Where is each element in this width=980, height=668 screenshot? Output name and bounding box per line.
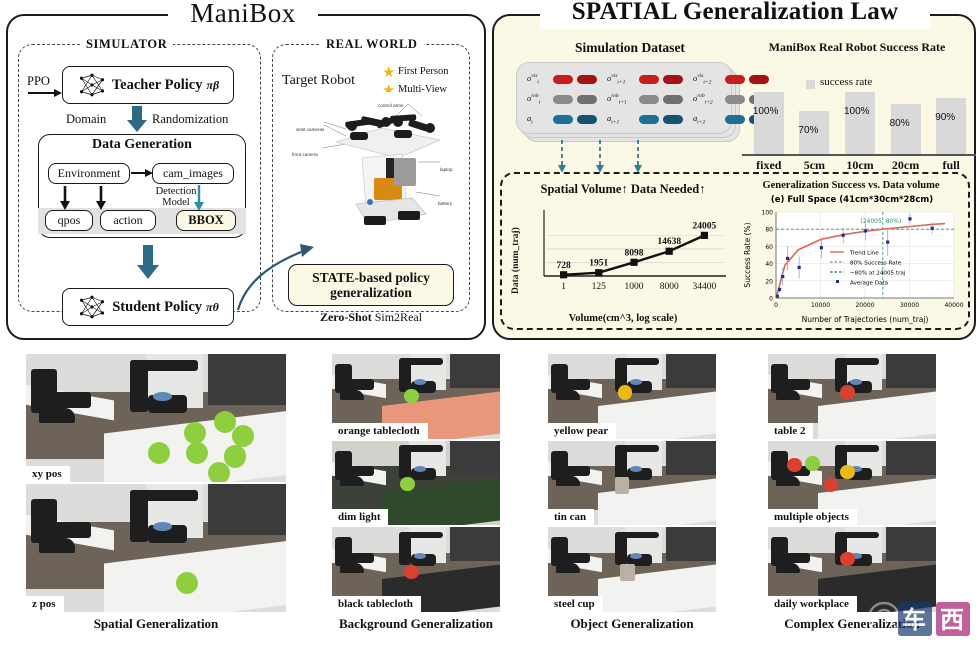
state-policy-line1: STATE-based policy bbox=[312, 270, 430, 285]
bar-category-full: full bbox=[929, 158, 973, 173]
scatter-point bbox=[781, 275, 784, 278]
line-xtick: 8000 bbox=[660, 282, 679, 292]
photo-caption: black tablecloth bbox=[332, 596, 421, 612]
scatter-chart-title: Generalization Success vs. Data volume bbox=[736, 180, 966, 191]
watermark-logo: 车 西 bbox=[866, 588, 976, 648]
photo-xy-pos: xy pos bbox=[26, 354, 286, 482]
scatter-ytick: 80 bbox=[765, 227, 773, 234]
photo-caption: table 2 bbox=[768, 423, 813, 439]
token-pill bbox=[639, 95, 659, 104]
scene-object bbox=[840, 552, 854, 566]
line-marker bbox=[560, 271, 567, 278]
dataset-to-chart-arrows-icon bbox=[556, 140, 666, 176]
token-pill bbox=[639, 115, 659, 124]
bar-value-full: 90% bbox=[935, 112, 955, 123]
scatter-xtick: 30000 bbox=[900, 302, 919, 309]
scene-object bbox=[148, 442, 170, 464]
token-pill bbox=[725, 95, 745, 104]
neural-network-icon bbox=[77, 294, 107, 320]
line-chart-xlabel: Volume(cm^3, log scale) bbox=[512, 313, 734, 324]
token-label-ovis-t1: ovist+1 bbox=[607, 73, 639, 86]
scene-object bbox=[184, 422, 206, 444]
simulation-dataset-title: Simulation Dataset bbox=[520, 40, 740, 56]
line-marker bbox=[666, 248, 673, 255]
token-label-ovis-t2: ovist+2 bbox=[693, 73, 725, 86]
robot-callout-control-arms: control arms bbox=[378, 94, 403, 112]
scene-object bbox=[224, 445, 246, 467]
bar-value-20cm: 80% bbox=[890, 118, 910, 129]
first-person-label: First Person bbox=[398, 66, 448, 77]
token-pill bbox=[577, 95, 597, 104]
scatter-point bbox=[908, 217, 911, 220]
token-label-orob-t2: orobt+2 bbox=[693, 93, 725, 106]
randomization-label: Randomization bbox=[152, 112, 228, 127]
robot-callout-laptop: laptop bbox=[440, 158, 453, 176]
scene-object bbox=[805, 456, 819, 470]
token-pill bbox=[553, 95, 573, 104]
scatter-chart-svg: (e) Full Space (41cm*30cm*28cm)(24005, 8… bbox=[740, 192, 964, 326]
bar-legend-swatch bbox=[806, 80, 815, 89]
scatter-subtitle: (e) Full Space (41cm*30cm*28cm) bbox=[771, 195, 933, 205]
bar-category-10cm: 10cm bbox=[838, 158, 882, 173]
scatter-ylabel: Success Rate (%) bbox=[743, 222, 752, 287]
bar-10cm bbox=[845, 92, 875, 154]
scatter-xtick: 0 bbox=[774, 302, 778, 309]
token-card: ovist ovist+1 ovist+2 orobt orobt+1 orob… bbox=[516, 62, 732, 134]
line-value-label: 728 bbox=[556, 261, 571, 271]
simulator-caption: SIMULATOR bbox=[80, 37, 173, 52]
scene-object bbox=[840, 385, 854, 399]
token-label-a-t: at bbox=[527, 113, 553, 126]
scatter-legend-label: ~80% at 24005 traj bbox=[850, 270, 906, 276]
scene-object bbox=[208, 462, 230, 482]
success-rate-bar-chart: 100%70%100%80%90% bbox=[746, 92, 974, 154]
environment-node: Environment bbox=[48, 163, 130, 184]
scene-object bbox=[176, 572, 198, 594]
photo-caption: steel cup bbox=[548, 596, 603, 612]
environment-to-action-arrow-icon bbox=[96, 186, 106, 210]
scene-object bbox=[787, 458, 801, 472]
scene-object bbox=[620, 564, 634, 581]
scatter-xtick: 20000 bbox=[855, 302, 874, 309]
scatter-ytick: 40 bbox=[765, 261, 773, 268]
token-row-orob: orobt orobt+1 orobt+2 bbox=[527, 92, 773, 106]
scene-object bbox=[400, 477, 414, 491]
scatter-legend-label: Average Data bbox=[850, 280, 888, 286]
photo-caption: multiple objects bbox=[768, 509, 857, 525]
photo-caption: xy pos bbox=[26, 466, 70, 482]
token-label-a-t2: at+2 bbox=[693, 113, 725, 126]
photo-caption: dim light bbox=[332, 509, 388, 525]
token-label-orob-t: orobt bbox=[527, 93, 553, 106]
token-label-orob-t1: orobt+1 bbox=[607, 93, 639, 106]
photo-table-2: table 2 bbox=[768, 354, 936, 439]
teacher-policy-symbol: πβ bbox=[206, 78, 219, 93]
scatter-ytick: 20 bbox=[765, 278, 773, 285]
bar-legend-label: success rate bbox=[820, 76, 872, 88]
generalization-success-scatter-chart: (e) Full Space (41cm*30cm*28cm)(24005, 8… bbox=[740, 192, 964, 326]
token-pill bbox=[749, 75, 769, 84]
line-value-label: 24005 bbox=[693, 221, 717, 231]
photo-column-object: yellow peartin cansteel cupObject Genera… bbox=[548, 354, 716, 634]
scatter-legend-label: 80% Success Rate bbox=[850, 260, 902, 266]
data-generation-title: Data Generation bbox=[38, 137, 246, 153]
robot-callout-battery: battery bbox=[438, 192, 452, 210]
token-pill bbox=[663, 95, 683, 104]
line-chart-ylabel: Data (num_traj) bbox=[500, 210, 514, 294]
column-caption: Spatial Generalization bbox=[26, 616, 286, 632]
state-based-policy-box: STATE-based policy generalization bbox=[288, 264, 454, 306]
scatter-xlabel: Number of Trajectories (num_traj) bbox=[802, 315, 929, 324]
photo-caption: daily workplace bbox=[768, 596, 857, 612]
scene-object bbox=[840, 465, 854, 479]
photo-caption: yellow pear bbox=[548, 423, 616, 439]
bar-full bbox=[936, 98, 966, 154]
photo-tin-can: tin can bbox=[548, 441, 716, 526]
line-xtick: 1 bbox=[561, 282, 566, 292]
token-label-ovis-t: ovist bbox=[527, 73, 553, 86]
scatter-point bbox=[842, 234, 845, 237]
photo-dim-light: dim light bbox=[332, 441, 500, 526]
photo-yellow-pear: yellow pear bbox=[548, 354, 716, 439]
line-chart-svg: 72811951125809810001463880002400534400 bbox=[538, 198, 728, 298]
token-pill bbox=[553, 115, 573, 124]
scene-object bbox=[615, 477, 629, 494]
bbox-node: BBOX bbox=[176, 210, 236, 231]
scatter-ytick: 0 bbox=[769, 296, 773, 303]
scatter-point bbox=[778, 288, 781, 291]
scene-object bbox=[186, 442, 208, 464]
scatter-point bbox=[886, 241, 889, 244]
line-value-label: 1951 bbox=[589, 259, 608, 269]
token-pill bbox=[639, 75, 659, 84]
photo-column-background: orange tableclothdim lightblack tableclo… bbox=[332, 354, 500, 634]
bar-20cm bbox=[891, 104, 921, 154]
line-value-label: 14638 bbox=[657, 237, 681, 247]
manibox-title: ManiBox bbox=[168, 0, 318, 30]
teacher-policy-label: Teacher Policy bbox=[112, 77, 203, 94]
token-pill bbox=[725, 115, 745, 124]
environment-to-cam-arrow-icon bbox=[131, 168, 153, 178]
column-caption: Object Generalization bbox=[548, 616, 716, 632]
robot-callout-front-camera: front camera bbox=[292, 143, 318, 161]
photo-z-pos: z pos bbox=[26, 484, 286, 612]
svg-text:车: 车 bbox=[902, 606, 926, 634]
scatter-point bbox=[786, 257, 789, 260]
qpos-node: qpos bbox=[45, 210, 93, 231]
environment-to-qpos-arrow-icon bbox=[60, 186, 70, 210]
photo-caption: tin can bbox=[548, 509, 594, 525]
photo-black-tablecloth: black tablecloth bbox=[332, 527, 500, 612]
token-pill bbox=[577, 75, 597, 84]
photo-column-spatial: xy posz posSpatial Generalization bbox=[26, 354, 286, 634]
token-pill bbox=[577, 115, 597, 124]
scene-object bbox=[404, 565, 418, 579]
bar-category-5cm: 5cm bbox=[792, 158, 836, 173]
bar-chart-axis bbox=[742, 154, 976, 156]
token-pill bbox=[553, 75, 573, 84]
datagen-to-student-arrow-icon bbox=[136, 245, 160, 279]
student-policy-symbol: πθ bbox=[206, 300, 219, 315]
scatter-point bbox=[864, 229, 867, 232]
photo-caption: orange tablecloth bbox=[332, 423, 428, 439]
scatter-ytick: 100 bbox=[762, 210, 774, 217]
scatter-point bbox=[820, 246, 823, 249]
detection-arrow-icon bbox=[193, 185, 205, 211]
line-xtick: 1000 bbox=[625, 282, 644, 292]
teacher-policy-node: Teacher Policy πβ bbox=[62, 66, 234, 104]
cam-images-node: cam_images bbox=[152, 163, 234, 184]
token-label-a-t1: at+1 bbox=[607, 113, 639, 126]
bar-category-20cm: 20cm bbox=[884, 158, 928, 173]
bar-category-fixed: fixed bbox=[747, 158, 791, 173]
scatter-legend-label: Trend Line bbox=[849, 250, 879, 256]
svg-text:西: 西 bbox=[940, 606, 964, 634]
down-arrow-icon bbox=[126, 106, 148, 132]
line-marker bbox=[630, 259, 637, 266]
token-pill bbox=[663, 115, 683, 124]
scatter-xtick: 10000 bbox=[811, 302, 830, 309]
zero-shot-rest: Sim2Real bbox=[372, 310, 422, 324]
scene-object bbox=[618, 385, 632, 399]
photo-steel-cup: steel cup bbox=[548, 527, 716, 612]
zero-shot-sim2real-label: Zero-Shot Sim2Real bbox=[288, 310, 454, 325]
scatter-point bbox=[798, 266, 801, 269]
line-marker bbox=[595, 269, 602, 276]
action-node: action bbox=[100, 210, 156, 231]
bar-value-fixed: 100% bbox=[753, 106, 779, 117]
student-policy-label: Student Policy bbox=[112, 299, 202, 316]
photo-orange-tablecloth: orange tablecloth bbox=[332, 354, 500, 439]
target-robot-photo bbox=[290, 92, 458, 240]
token-row-action: at at+1 at+2 bbox=[527, 112, 773, 126]
zero-shot-bold: Zero-Shot bbox=[320, 310, 372, 324]
line-chart-title: Spatial Volume↑ Data Needed↑ bbox=[512, 182, 734, 197]
realworld-caption: REAL WORLD bbox=[320, 37, 424, 52]
token-row-ovis: ovist ovist+1 ovist+2 bbox=[527, 72, 773, 86]
neural-network-icon bbox=[77, 72, 107, 98]
line-value-label: 8098 bbox=[625, 248, 644, 258]
target-robot-label: Target Robot bbox=[282, 73, 355, 89]
spatial-law-title: SPATIAL Generalization Law bbox=[540, 0, 930, 29]
domain-label: Domain bbox=[66, 112, 106, 127]
ppo-arrow-icon bbox=[28, 88, 62, 98]
star-icon: ★ bbox=[382, 66, 395, 81]
scatter-xtick: 40000 bbox=[944, 302, 963, 309]
scatter-point bbox=[931, 227, 934, 230]
column-caption: Background Generalization bbox=[332, 616, 500, 632]
student-policy-node: Student Policy πθ bbox=[62, 288, 234, 326]
line-marker bbox=[701, 232, 708, 239]
scatter-annotation: (24005, 80%) bbox=[860, 218, 901, 225]
ppo-label: PPO bbox=[27, 74, 50, 89]
bar-value-5cm: 70% bbox=[798, 125, 818, 136]
robot-callout-wrist-cameras: wrist cameras bbox=[296, 118, 324, 136]
scatter-ytick: 60 bbox=[765, 244, 773, 251]
state-policy-line2: generalization bbox=[330, 285, 412, 300]
scene-object bbox=[404, 389, 418, 403]
token-pill bbox=[725, 75, 745, 84]
line-xtick: 34400 bbox=[693, 282, 717, 292]
photo-multiple-objects: multiple objects bbox=[768, 441, 936, 526]
data-needed-line-chart: 72811951125809810001463880002400534400 bbox=[538, 198, 728, 298]
token-pill bbox=[663, 75, 683, 84]
success-rate-title: ManiBox Real Robot Success Rate bbox=[742, 40, 972, 55]
line-xtick: 125 bbox=[592, 282, 607, 292]
bar-fixed bbox=[754, 92, 784, 154]
photo-caption: z pos bbox=[26, 596, 64, 612]
bar-value-10cm: 100% bbox=[844, 106, 870, 117]
